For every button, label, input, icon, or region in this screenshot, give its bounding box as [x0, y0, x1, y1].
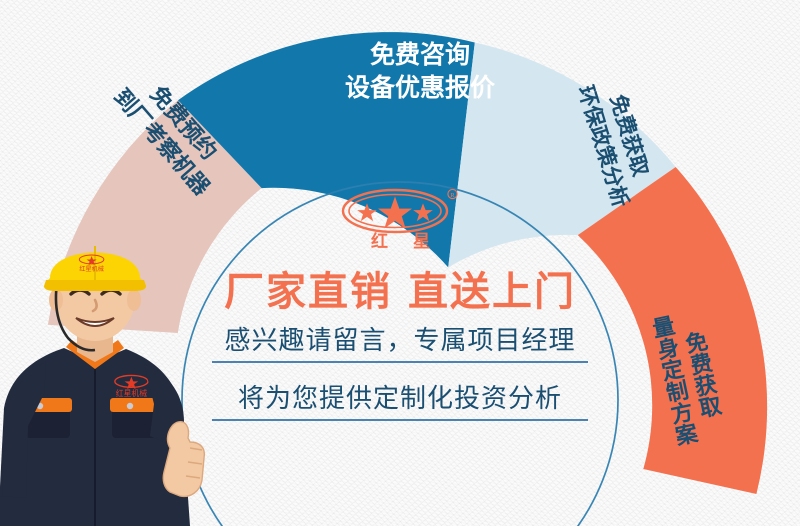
worker-ear	[127, 289, 141, 311]
promotional-banner: 免费预约 到厂考察机器 免费咨询 设备优惠报价 免费获取 环保政策分析 免费获取…	[0, 0, 800, 526]
arc-label-line: 设备优惠报价	[325, 71, 515, 104]
svg-text:红星机械: 红星机械	[116, 388, 147, 398]
uniform-pocket-flap-right	[110, 398, 160, 412]
thumbs-up-hand	[163, 422, 204, 497]
svg-text:红星机械: 红星机械	[79, 265, 103, 273]
worker-photo: 红星机械 红星机械	[0, 236, 224, 526]
arc-label-line: 免费咨询	[325, 38, 515, 71]
helmet-brim	[44, 280, 146, 291]
pocket-button	[127, 403, 133, 409]
arc-label-free-consultation: 免费咨询 设备优惠报价	[325, 38, 515, 104]
